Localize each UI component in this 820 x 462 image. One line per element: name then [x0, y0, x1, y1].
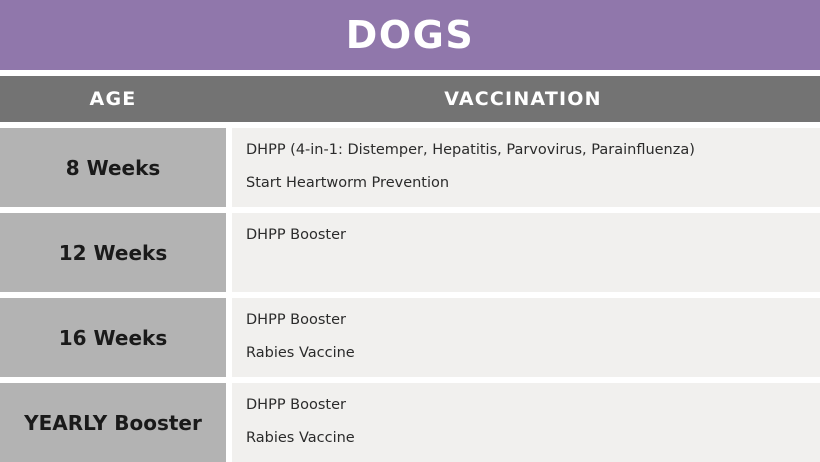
age-label: 8 Weeks — [66, 156, 161, 180]
vaccination-line: Rabies Vaccine — [246, 345, 820, 362]
table-row: YEARLY Booster DHPP Booster Rabies Vacci… — [0, 383, 820, 462]
table-body: 8 Weeks DHPP (4-in-1: Distemper, Hepatit… — [0, 128, 820, 462]
vaccination-line: DHPP (4-in-1: Distemper, Hepatitis, Parv… — [246, 142, 820, 159]
cell-vaccination: DHPP Booster Rabies Vaccine — [232, 383, 820, 462]
age-label: 12 Weeks — [59, 241, 167, 265]
title-banner: DOGS — [0, 0, 820, 70]
column-header-vaccination: VACCINATION — [226, 76, 820, 122]
vaccination-line: DHPP Booster — [246, 312, 820, 329]
cell-age: YEARLY Booster — [0, 383, 226, 462]
cell-age: 12 Weeks — [0, 213, 226, 292]
table-row: 16 Weeks DHPP Booster Rabies Vaccine — [0, 298, 820, 377]
cell-age: 8 Weeks — [0, 128, 226, 207]
vaccination-line: DHPP Booster — [246, 397, 820, 414]
column-header-age-label: AGE — [90, 88, 137, 110]
column-header-age: AGE — [0, 76, 226, 122]
vaccination-schedule-sheet: DOGS AGE VACCINATION 8 Weeks DHPP (4-in-… — [0, 0, 820, 462]
vaccination-line: Rabies Vaccine — [246, 430, 820, 447]
cell-vaccination: DHPP Booster Rabies Vaccine — [232, 298, 820, 377]
vaccination-line: Start Heartworm Prevention — [246, 175, 820, 192]
vaccination-line: DHPP Booster — [246, 227, 820, 244]
table-header-row: AGE VACCINATION — [0, 76, 820, 122]
age-label: 16 Weeks — [59, 326, 167, 350]
cell-age: 16 Weeks — [0, 298, 226, 377]
column-header-vaccination-label: VACCINATION — [444, 88, 602, 110]
cell-vaccination: DHPP Booster — [232, 213, 820, 292]
cell-vaccination: DHPP (4-in-1: Distemper, Hepatitis, Parv… — [232, 128, 820, 207]
table-row: 8 Weeks DHPP (4-in-1: Distemper, Hepatit… — [0, 128, 820, 207]
table-row: 12 Weeks DHPP Booster — [0, 213, 820, 292]
page-title: DOGS — [346, 16, 474, 54]
age-label: YEARLY Booster — [24, 411, 202, 435]
